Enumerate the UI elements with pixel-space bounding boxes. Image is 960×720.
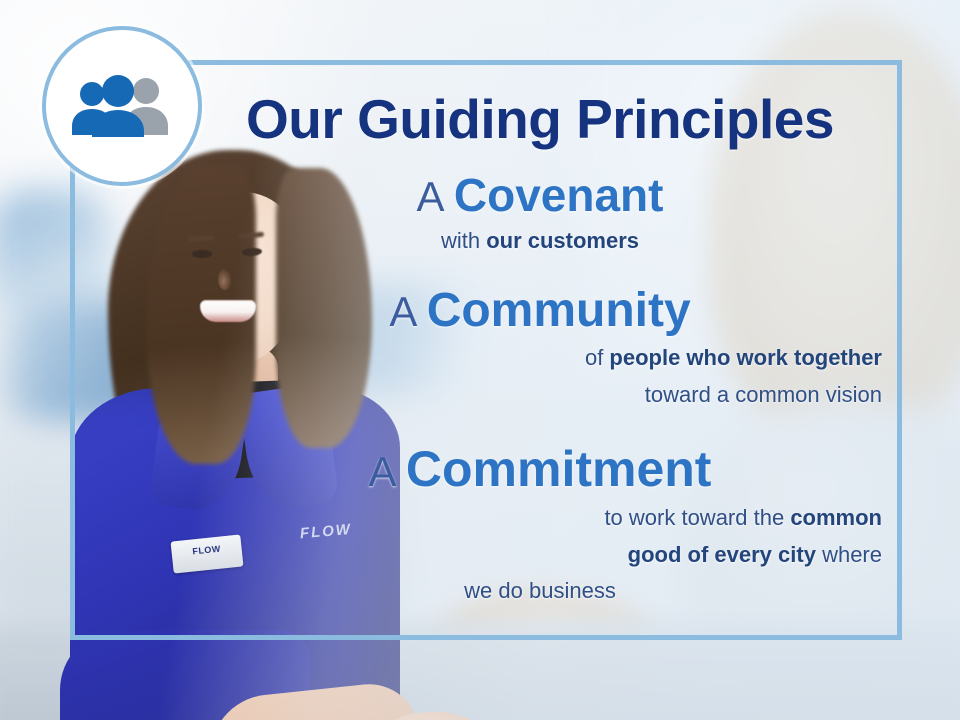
- principle-1-headline: Covenant: [454, 169, 664, 221]
- banner-image: FLOW FLOW Our Guiding Principles: [0, 0, 960, 720]
- principle-2: A Community of people who work together …: [190, 286, 890, 410]
- principle-3-detail-post: where: [816, 542, 882, 567]
- people-group-badge: [42, 26, 202, 186]
- text-block: Our Guiding Principles A Covenant with o…: [190, 78, 890, 606]
- principle-2-detail-bold: people who work together: [609, 345, 882, 370]
- principle-1-detail-pre: with: [441, 228, 486, 253]
- principle-3-headline: Commitment: [406, 441, 712, 497]
- principle-3-headline-row: A Commitment: [190, 443, 890, 496]
- principle-3-detail-line-3: we do business: [190, 577, 890, 606]
- principle-2-headline-row: A Community: [190, 286, 890, 336]
- principle-1-article: A: [417, 173, 443, 220]
- principle-3: A Commitment to work toward the common g…: [190, 443, 890, 605]
- principle-2-headline: Community: [427, 284, 691, 337]
- page-title: Our Guiding Principles: [190, 92, 890, 147]
- principle-1: A Covenant with our customers: [190, 171, 890, 256]
- principle-3-detail-bold-1: common: [790, 505, 882, 530]
- people-group-icon: [70, 69, 174, 143]
- principle-3-article: A: [369, 448, 395, 495]
- principle-2-article: A: [389, 288, 415, 335]
- principle-1-detail-bold: our customers: [486, 228, 639, 253]
- principle-3-detail-line-2: good of every city where: [190, 541, 890, 570]
- principle-1-headline-row: A Covenant: [190, 171, 890, 219]
- principle-1-detail: with our customers: [190, 227, 890, 256]
- principle-2-detail-line-1: of people who work together: [190, 344, 890, 373]
- principle-2-detail-pre: of: [585, 345, 609, 370]
- principle-3-detail-pre: to work toward the: [604, 505, 790, 530]
- principle-2-detail-line-2: toward a common vision: [190, 381, 890, 410]
- principle-3-detail-bold-2: good of every city: [628, 542, 816, 567]
- principle-3-detail-line-1: to work toward the common: [190, 504, 890, 533]
